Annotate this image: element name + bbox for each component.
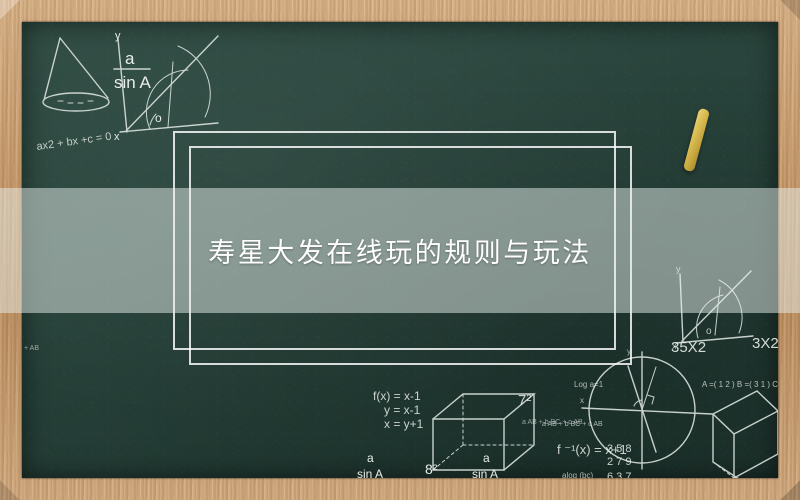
chalk-fraction-num-left: a (367, 451, 374, 465)
chalk-log-label: Log a=1 (574, 380, 604, 389)
chalk-fx-line2: y = x-1 (384, 403, 421, 417)
chalk-eight-squared: 8² (425, 461, 438, 477)
chalk-fx-line3: x = y+1 (384, 417, 424, 431)
chalk-axis-x-circle: x (580, 396, 584, 405)
chalk-fraction-numerator-topleft: a (125, 49, 135, 68)
chalk-fraction-den-mid: sin A (472, 467, 498, 478)
chalk-sum-row1: 3 5 8 (607, 443, 631, 455)
chalkboard-banner: a sin A y x o ax2 + bx +c = 0 y x o f(x)… (0, 0, 800, 500)
chalk-angle-label-right: o (706, 326, 712, 337)
chalk-misc-expression: a AB + b BC + c AB (522, 419, 583, 426)
chalk-fraction-den-left: sin A (357, 467, 383, 478)
chalk-fraction-num-mid: a (483, 451, 490, 465)
title-overlay-band: 寿星大发在线玩的规则与玩法 (0, 188, 800, 313)
chalk-sum-row2: 2 7 9 (607, 456, 631, 468)
chalk-axis-x-topleft: x (114, 131, 120, 143)
chalk-fx-line1: f(x) = x-1 (373, 389, 421, 403)
chalk-matrix-expression: A =( 1 2 ) B =( 3 1 ) C =( 2 3 ) (702, 380, 778, 389)
chalk-matrix-dim-left: 35X2 (671, 339, 706, 356)
cube-figure-right (713, 391, 778, 478)
page-title: 寿星大发在线玩的规则与玩法 (208, 231, 592, 270)
chalk-fraction-denominator-topleft: sin A (114, 73, 152, 92)
chalk-axis-y-topleft: y (115, 30, 121, 42)
chalk-matrix-dim-right: 3X2 (752, 335, 778, 352)
chalk-sum-result: 6 3 7 (607, 471, 631, 478)
chalk-seven-squared: 7² (518, 392, 531, 409)
chalk-misc-ab: + AB (24, 345, 39, 352)
chalk-angle-label-topleft: o (155, 111, 162, 125)
cone-figure (43, 38, 109, 111)
chalk-log-bc: alog (bc) (562, 471, 593, 478)
chalk-quadratic-equation: ax2 + bx +c = 0 (36, 131, 112, 153)
